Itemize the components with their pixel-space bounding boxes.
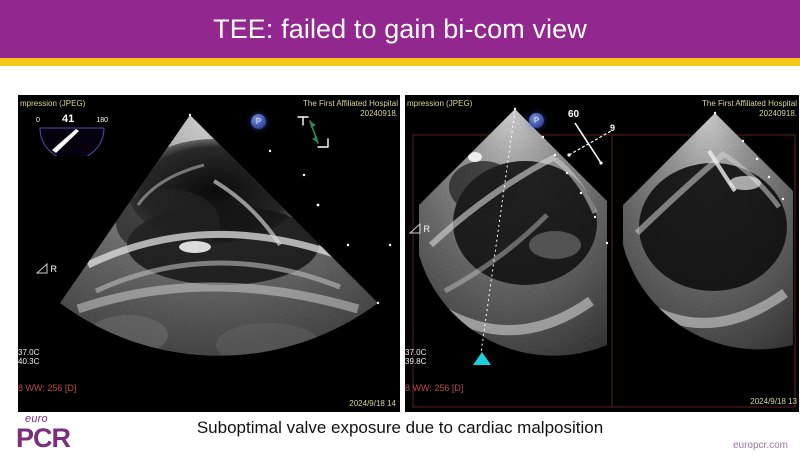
hospital-name-left: The First Affiliated Hospital <box>303 99 398 109</box>
dial-numbers-left: 0 41 180 <box>36 113 108 125</box>
window-width-readout-left: 8 WW: 256 [D] <box>18 383 76 393</box>
biplane-angle-primary: 60 <box>568 109 579 120</box>
page-title: TEE: failed to gain bi-com view <box>213 16 587 43</box>
temperature-readout-left: 37.0C 40.3C <box>18 348 39 367</box>
dial-arc-left <box>36 126 108 156</box>
website-url: europcr.com <box>733 440 788 451</box>
slide-body: mpression (JPEG) The First Affiliated Ho… <box>0 66 800 450</box>
temperature-line-2-right: 39.8C <box>405 357 426 366</box>
temperature-line-1-right: 37.0C <box>405 348 426 357</box>
ultrasound-panel-right[interactable]: mpression (JPEG) The First Affiliated Ho… <box>405 95 799 412</box>
window-width-readout-right: 8 WW: 256 [D] <box>405 383 463 393</box>
slide-title-bar: TEE: failed to gain bi-com view <box>0 0 800 58</box>
biplane-angle-indicator-right[interactable]: 60 9 <box>565 109 635 165</box>
orientation-marker-left: R <box>36 263 57 274</box>
temperature-line-1-left: 37.0C <box>18 348 39 357</box>
dial-value-left: 41 <box>62 113 74 125</box>
orientation-marker-right: R <box>409 223 430 234</box>
probe-marker-right: P <box>529 113 544 128</box>
orientation-triangle-icon-right <box>409 223 421 234</box>
dial-min-left: 0 <box>36 117 40 124</box>
hospital-label-right: The First Affiliated Hospital 20240918. <box>702 99 797 119</box>
hospital-label-left: The First Affiliated Hospital 20240918. <box>303 99 398 119</box>
logo-pcr-text: PCR <box>16 423 70 454</box>
europcr-logo: euro PCR <box>16 413 98 455</box>
temperature-readout-right: 37.0C 39.8C <box>405 348 426 367</box>
exam-id-left: 20240918. <box>303 109 398 119</box>
timestamp-right: 2024/9/18 13 <box>750 397 797 406</box>
timestamp-left: 2024/9/18 14 <box>349 399 396 408</box>
orientation-letter-right: R <box>424 224 431 234</box>
orientation-letter-left: R <box>51 264 58 274</box>
temperature-line-2-left: 40.3C <box>18 357 39 366</box>
probe-marker-left: P <box>251 114 266 129</box>
biplane-cross-icon <box>565 121 635 165</box>
orientation-triangle-icon-left <box>36 263 48 274</box>
dial-max-left: 180 <box>96 117 108 124</box>
probe-angle-dial-left[interactable]: 0 41 180 <box>36 113 108 157</box>
hospital-name-right: The First Affiliated Hospital <box>702 99 797 109</box>
compression-label-left: mpression (JPEG) <box>20 99 85 108</box>
compression-label-right: mpression (JPEG) <box>407 99 472 108</box>
ultrasound-panel-left[interactable]: mpression (JPEG) The First Affiliated Ho… <box>18 95 400 412</box>
slide-caption: Suboptimal valve exposure due to cardiac… <box>0 418 800 438</box>
exam-id-right: 20240918. <box>702 109 797 119</box>
title-underline-rule <box>0 58 800 66</box>
